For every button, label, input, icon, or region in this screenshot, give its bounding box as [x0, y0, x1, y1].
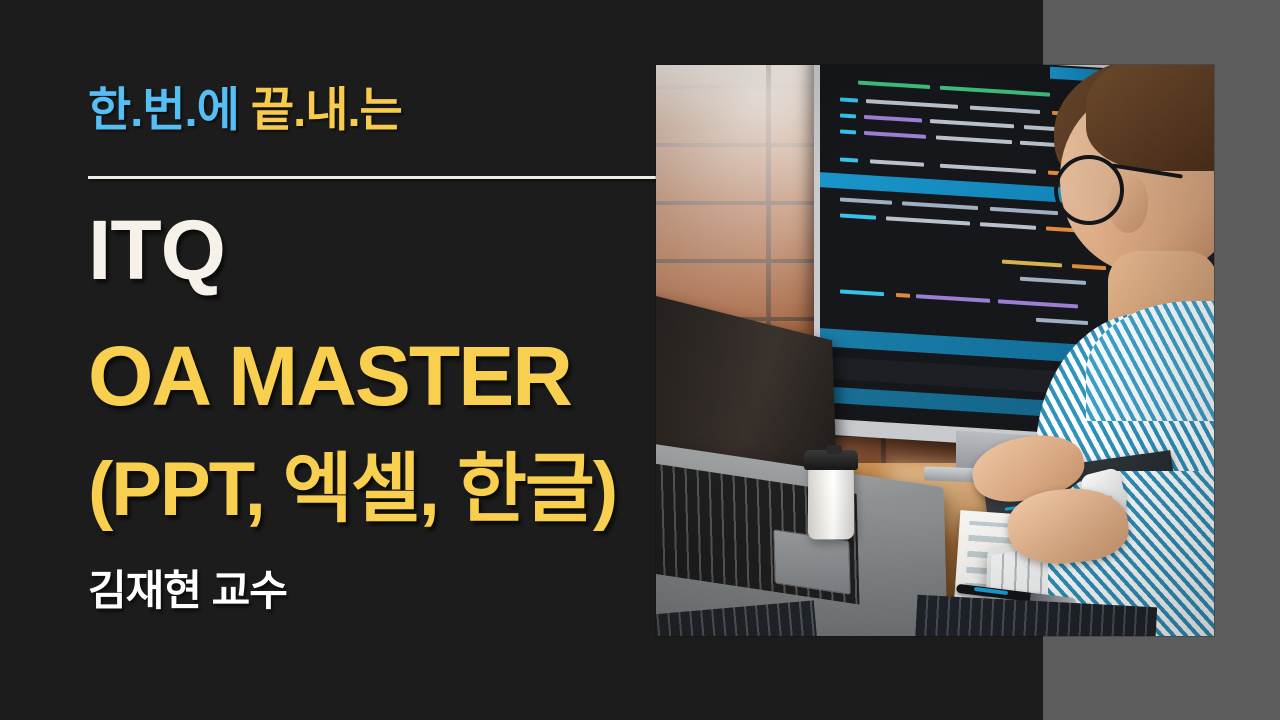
course-title-slide: 한.번.에 끝.내.는 ITQ OA MASTER (PPT, 엑셀, 한글) … — [0, 0, 1280, 720]
course-title-main: ITQ — [88, 208, 225, 292]
hero-photo — [656, 65, 1214, 636]
tagline: 한.번.에 끝.내.는 — [88, 86, 402, 133]
hero-photo-scene — [656, 65, 1214, 636]
text-content-block: 한.번.에 끝.내.는 ITQ OA MASTER (PPT, 엑셀, 한글) … — [88, 0, 668, 720]
person-hair-top — [1086, 65, 1214, 171]
tagline-segment-blue: 한.번.에 — [88, 83, 239, 136]
tagline-segment-yellow: 끝.내.는 — [251, 83, 402, 136]
course-title-sub: OA MASTER — [88, 334, 571, 418]
coffee-cup — [808, 463, 855, 539]
instructor-name: 김재현 교수 — [88, 570, 287, 612]
course-title-parenthetical: (PPT, 엑셀, 한글) — [88, 452, 616, 528]
divider-rule — [88, 176, 656, 179]
coffee-cup-lid-tab — [826, 445, 842, 454]
